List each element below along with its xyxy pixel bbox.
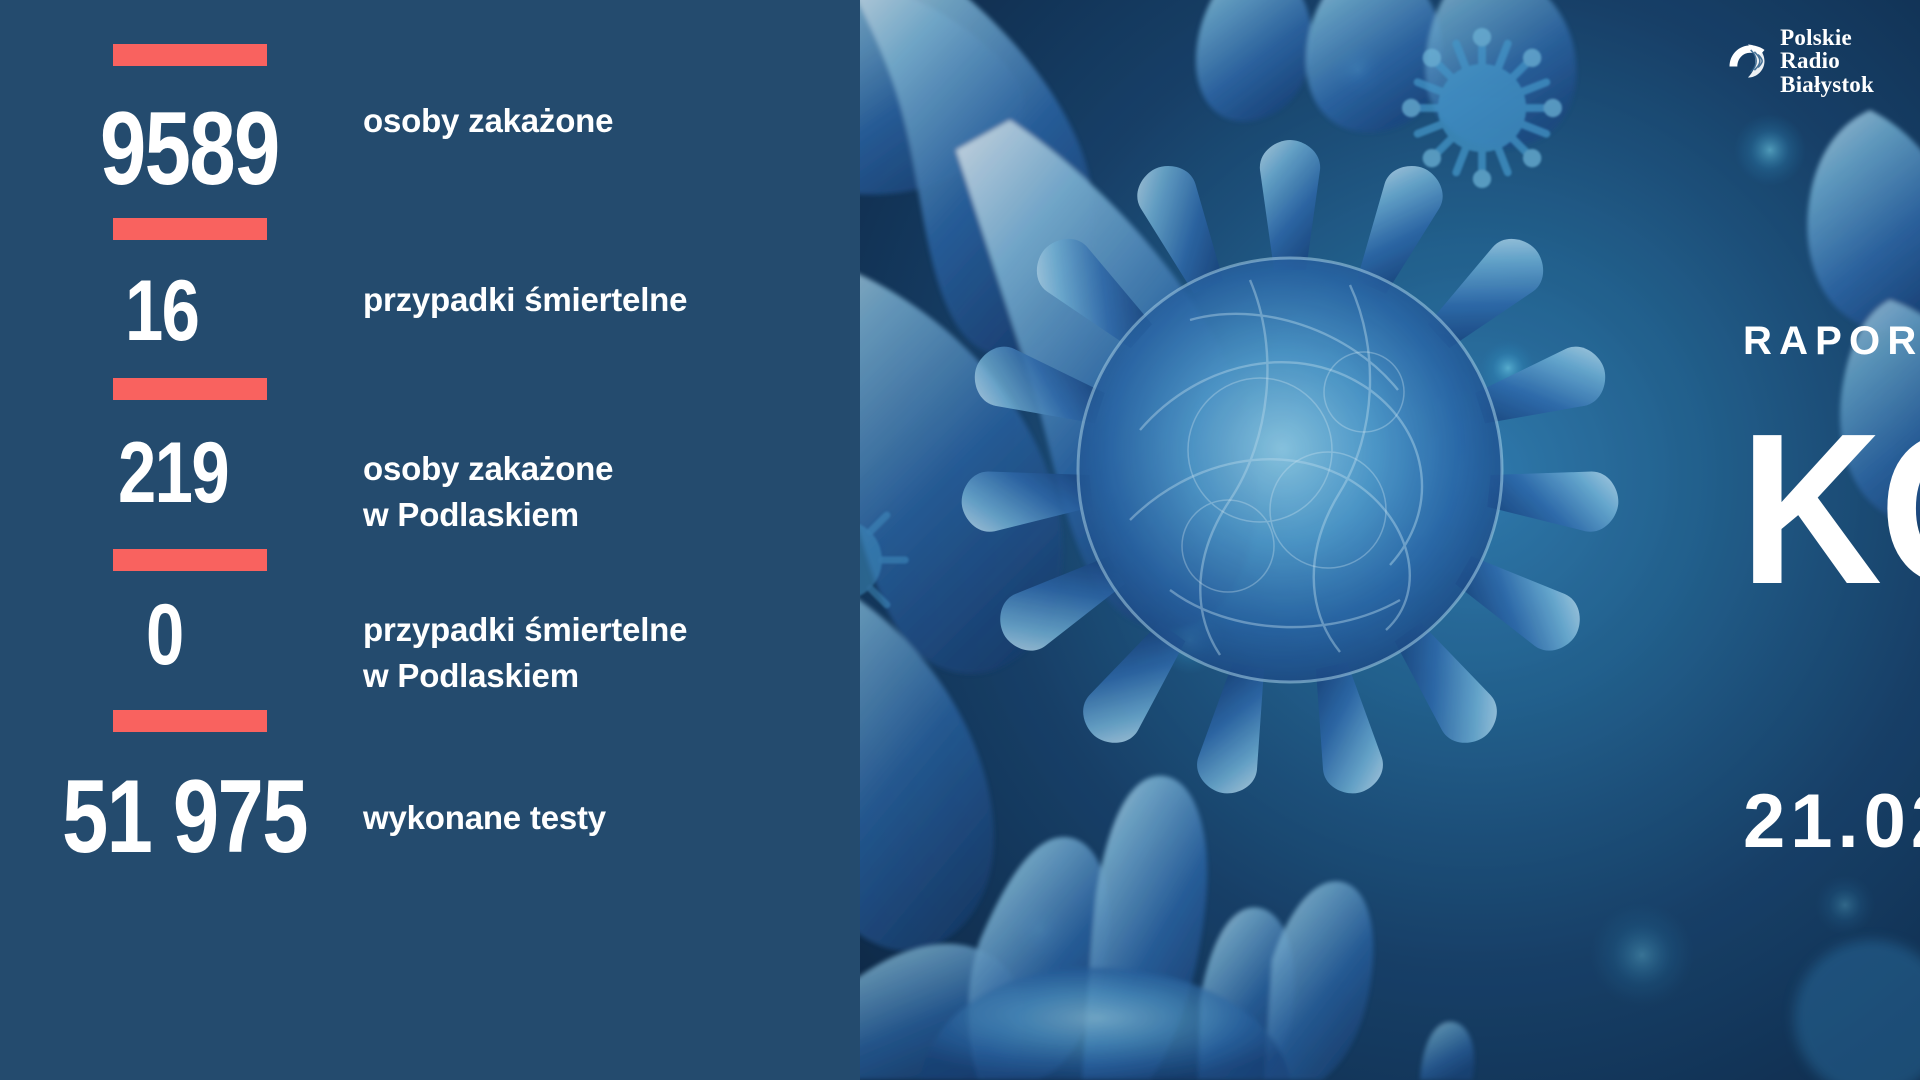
coronavirus-report-poster: 9589 osoby zakażone 16 przypadki śmierte… <box>0 0 1920 1080</box>
stat-label: osoby zakażone w Podlaskiem <box>363 446 613 537</box>
stat-value: 16 <box>125 274 198 350</box>
polskie-radio-swirl-icon <box>1724 38 1770 84</box>
stat-label: przypadki śmiertelne <box>363 277 687 323</box>
stat-value: 9589 <box>100 104 279 196</box>
stat-label: osoby zakażone <box>363 98 613 144</box>
station-logo: Polskie Radio Białystok <box>1724 26 1874 96</box>
virus-image-panel: RAPORT MINISTERSTWA ZDROWIA KORONAWIRUS … <box>860 0 1920 1080</box>
stat-value: 219 <box>118 436 228 512</box>
stat-label: przypadki śmiertelne w Podlaskiem <box>363 607 687 698</box>
stat-value: 0 <box>146 598 183 674</box>
stat-label: wykonane testy <box>363 795 606 841</box>
accent-bar <box>113 44 267 66</box>
logo-wordmark: Polskie Radio Białystok <box>1780 26 1874 96</box>
accent-bar <box>113 549 267 571</box>
accent-bar <box>113 710 267 732</box>
report-kicker: RAPORT MINISTERSTWA ZDROWIA <box>1743 319 1920 364</box>
accent-bar <box>113 378 267 400</box>
stat-value: 51 975 <box>62 772 307 864</box>
accent-bar <box>113 218 267 240</box>
page-title: KORONAWIRUS <box>1740 410 1920 608</box>
report-date: 21.02.2022 <box>1743 778 1920 865</box>
statistics-panel: 9589 osoby zakażone 16 przypadki śmierte… <box>0 0 860 1080</box>
